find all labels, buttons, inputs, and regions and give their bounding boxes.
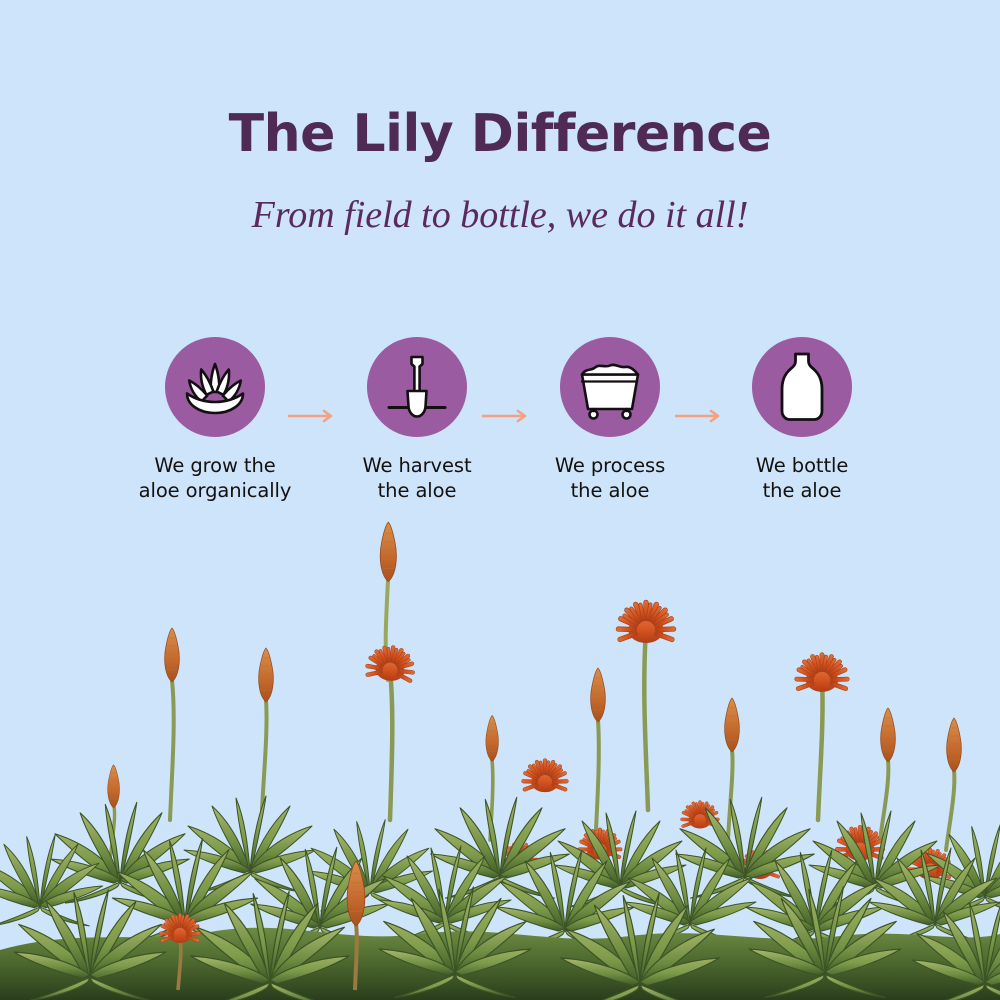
step-icon-circle-grow [165,337,265,437]
shovel-icon [367,337,467,437]
page-title: The Lily Difference [0,108,1000,160]
processing-tub-icon [560,337,660,437]
process-step-label: We bottle the aloe [717,454,887,504]
step-icon-circle-process [560,337,660,437]
bottle-icon [752,337,852,437]
aloe-field-photograph [0,520,1000,1000]
step-icon-circle-harvest [367,337,467,437]
heading-block: The Lily Difference From field to bottle… [0,108,1000,234]
process-step-label: We harvest the aloe [332,454,502,504]
process-step-label: We process the aloe [525,454,695,504]
arrow-process-to-bottle-icon [675,409,723,423]
process-step-bottle: We bottle the aloe [717,330,887,504]
process-step-harvest: We harvest the aloe [332,330,502,504]
infographic-page: The Lily Difference From field to bottle… [0,0,1000,1000]
process-step-grow: We grow the aloe organically [130,330,300,504]
arrow-grow-to-harvest-icon [288,409,336,423]
step-icon-circle-bottle [752,337,852,437]
process-steps: We grow the aloe organically We harvest … [110,330,900,520]
aloe-plant-icon [165,337,265,437]
arrow-harvest-to-process-icon [482,409,530,423]
process-step-process: We process the aloe [525,330,695,504]
page-subtitle: From field to bottle, we do it all! [0,160,1000,234]
process-step-label: We grow the aloe organically [130,454,300,504]
